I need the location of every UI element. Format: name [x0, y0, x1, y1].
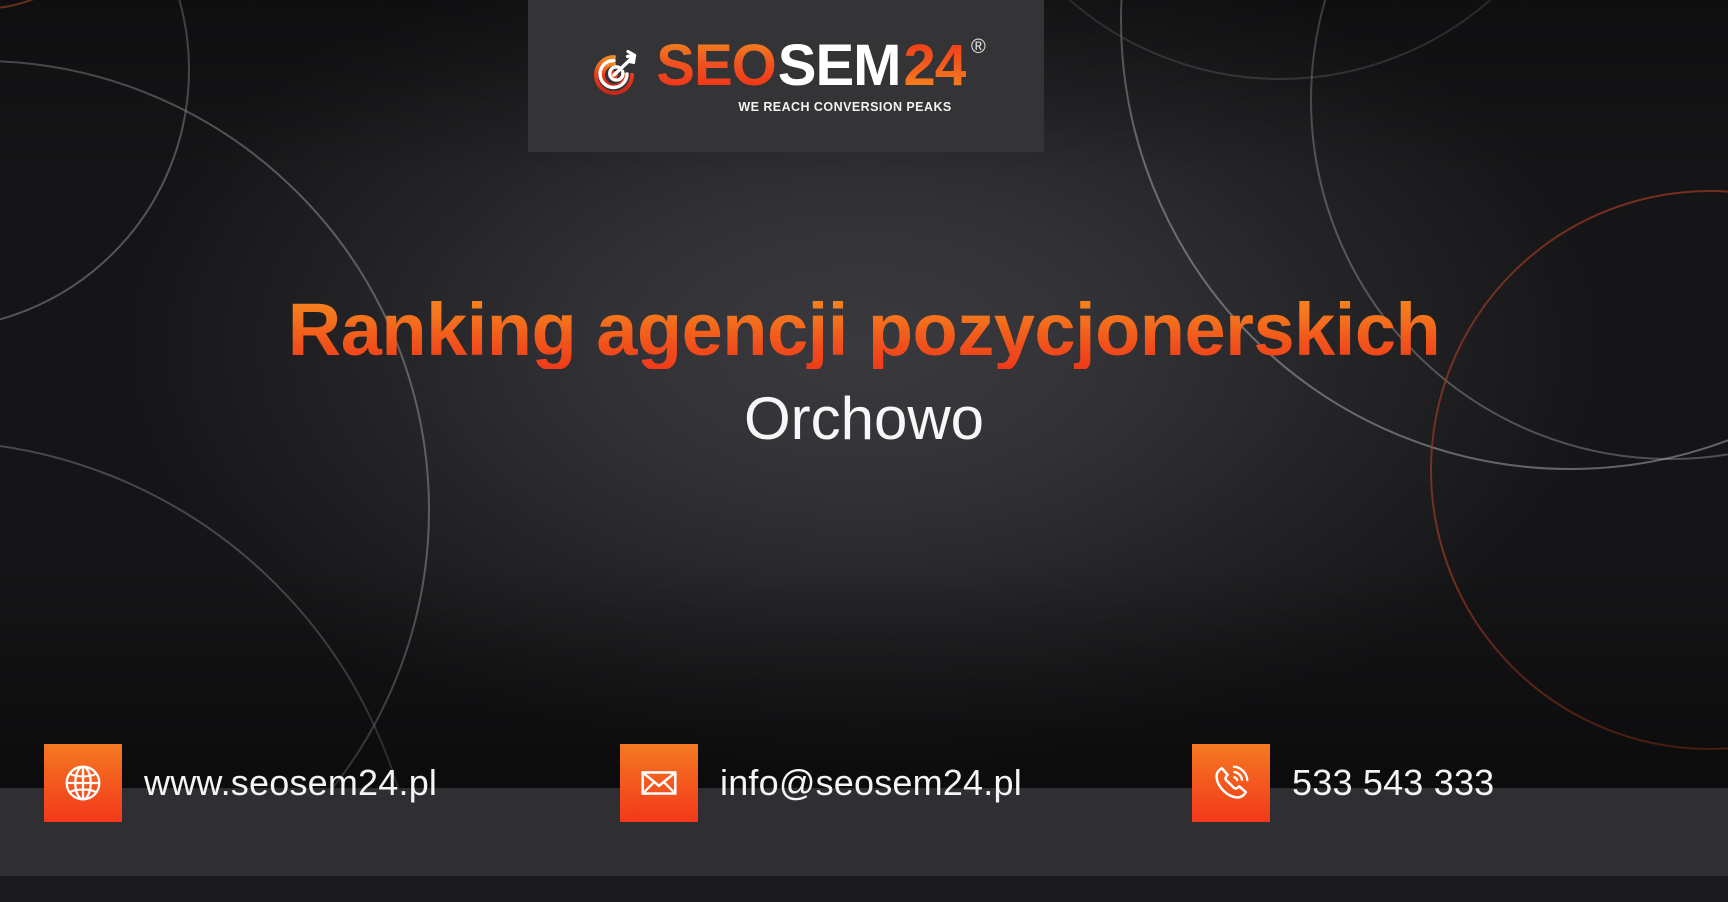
envelope-icon [620, 744, 698, 822]
page-subtitle: Orchowo [0, 389, 1728, 449]
logo-seo-text: SEO [656, 37, 776, 95]
hero-text-block: Ranking agencji pozycjonerskich Orchowo [0, 292, 1728, 449]
slide-canvas: SEO SEM 24 ® WE REACH CONVERSION PEAKS R… [0, 0, 1728, 902]
brand-logo[interactable]: SEO SEM 24 ® WE REACH CONVERSION PEAKS [528, 0, 1044, 152]
target-dart-icon [586, 47, 642, 103]
phone-label: 533 543 333 [1292, 762, 1494, 804]
email-label: info@seosem24.pl [720, 762, 1022, 804]
contact-phone[interactable]: 533 543 333 [1192, 744, 1494, 822]
globe-icon [44, 744, 122, 822]
logo-number-text: 24 [903, 37, 966, 95]
phone-call-icon [1192, 744, 1270, 822]
registered-mark-icon: ® [971, 37, 986, 57]
logo-sem-text: SEM [778, 37, 901, 95]
logo-tagline: WE REACH CONVERSION PEAKS [656, 100, 951, 114]
contact-email[interactable]: info@seosem24.pl [620, 744, 1022, 822]
contact-footer: www.seosem24.pl info@seosem24.pl [0, 788, 1728, 876]
bottom-strip [0, 876, 1728, 902]
website-label: www.seosem24.pl [144, 762, 437, 804]
contact-website[interactable]: www.seosem24.pl [44, 744, 437, 822]
page-title: Ranking agencji pozycjonerskich [0, 292, 1728, 369]
